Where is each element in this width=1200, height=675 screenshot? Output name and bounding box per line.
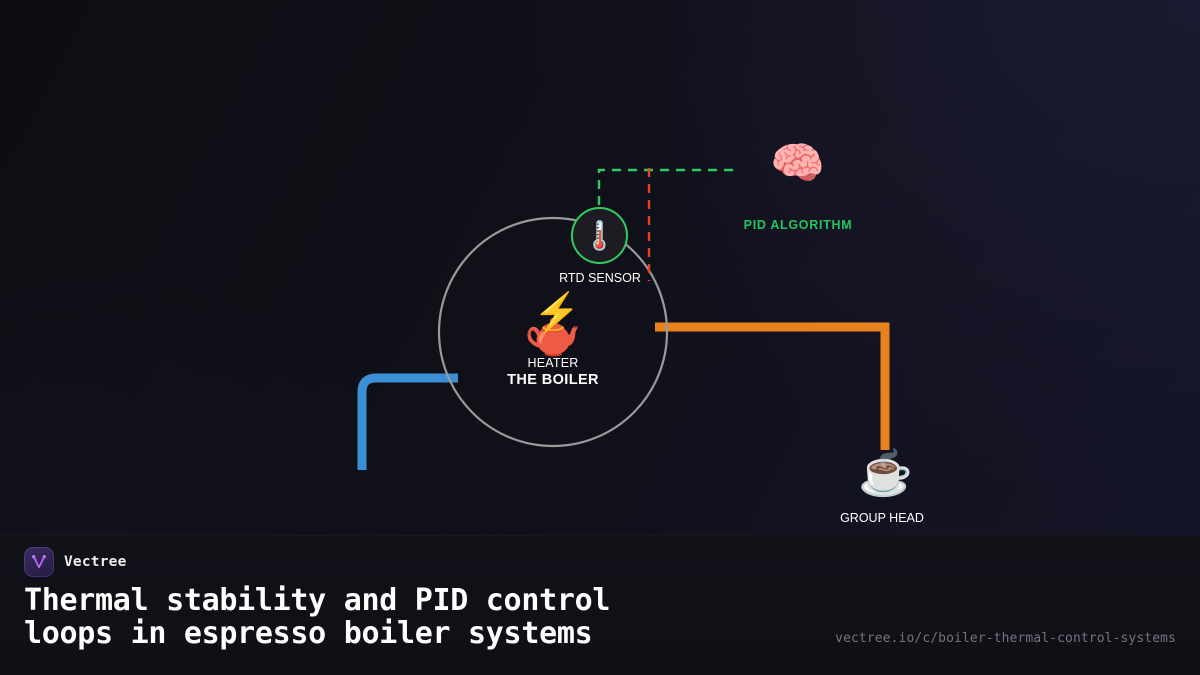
rtd-sensor-label: RTD SENSOR (500, 271, 700, 285)
brain-icon: 🧠 (770, 142, 825, 186)
brand-name: Vectree (64, 554, 127, 570)
rtd-sensor-node: 🌡️ (571, 207, 628, 264)
headline: Thermal stability and PID control loops … (24, 584, 834, 650)
brand: Vectree (24, 547, 127, 577)
slide-canvas: 🫖 ⚡ HEATER THE BOILER 🌡️ RTD SENSOR 🧠 PI… (0, 0, 1200, 675)
thermometer-icon: 🌡️ (582, 219, 617, 252)
group-head-label: GROUP HEAD (782, 511, 982, 525)
boiler-system-diagram: 🫖 ⚡ HEATER THE BOILER 🌡️ RTD SENSOR 🧠 PI… (0, 0, 1200, 540)
pid-algorithm-label: PID ALGORITHM (698, 218, 898, 232)
sensor-feedback-line (599, 170, 738, 205)
footer-bar: Vectree Thermal stability and PID contro… (0, 535, 1200, 675)
heater-kettle-icon: 🫖 ⚡ (524, 310, 581, 356)
boiler-title: THE BOILER (338, 372, 768, 388)
coffee-cup-icon: ☕ (858, 452, 913, 496)
vectree-logo-icon (24, 547, 54, 577)
site-url: vectree.io/c/boiler-thermal-control-syst… (835, 631, 1176, 646)
cold-water-inlet-pipe (362, 378, 458, 470)
heater-node: 🫖 ⚡ HEATER (338, 310, 768, 370)
diagram-vectors (0, 0, 1200, 540)
